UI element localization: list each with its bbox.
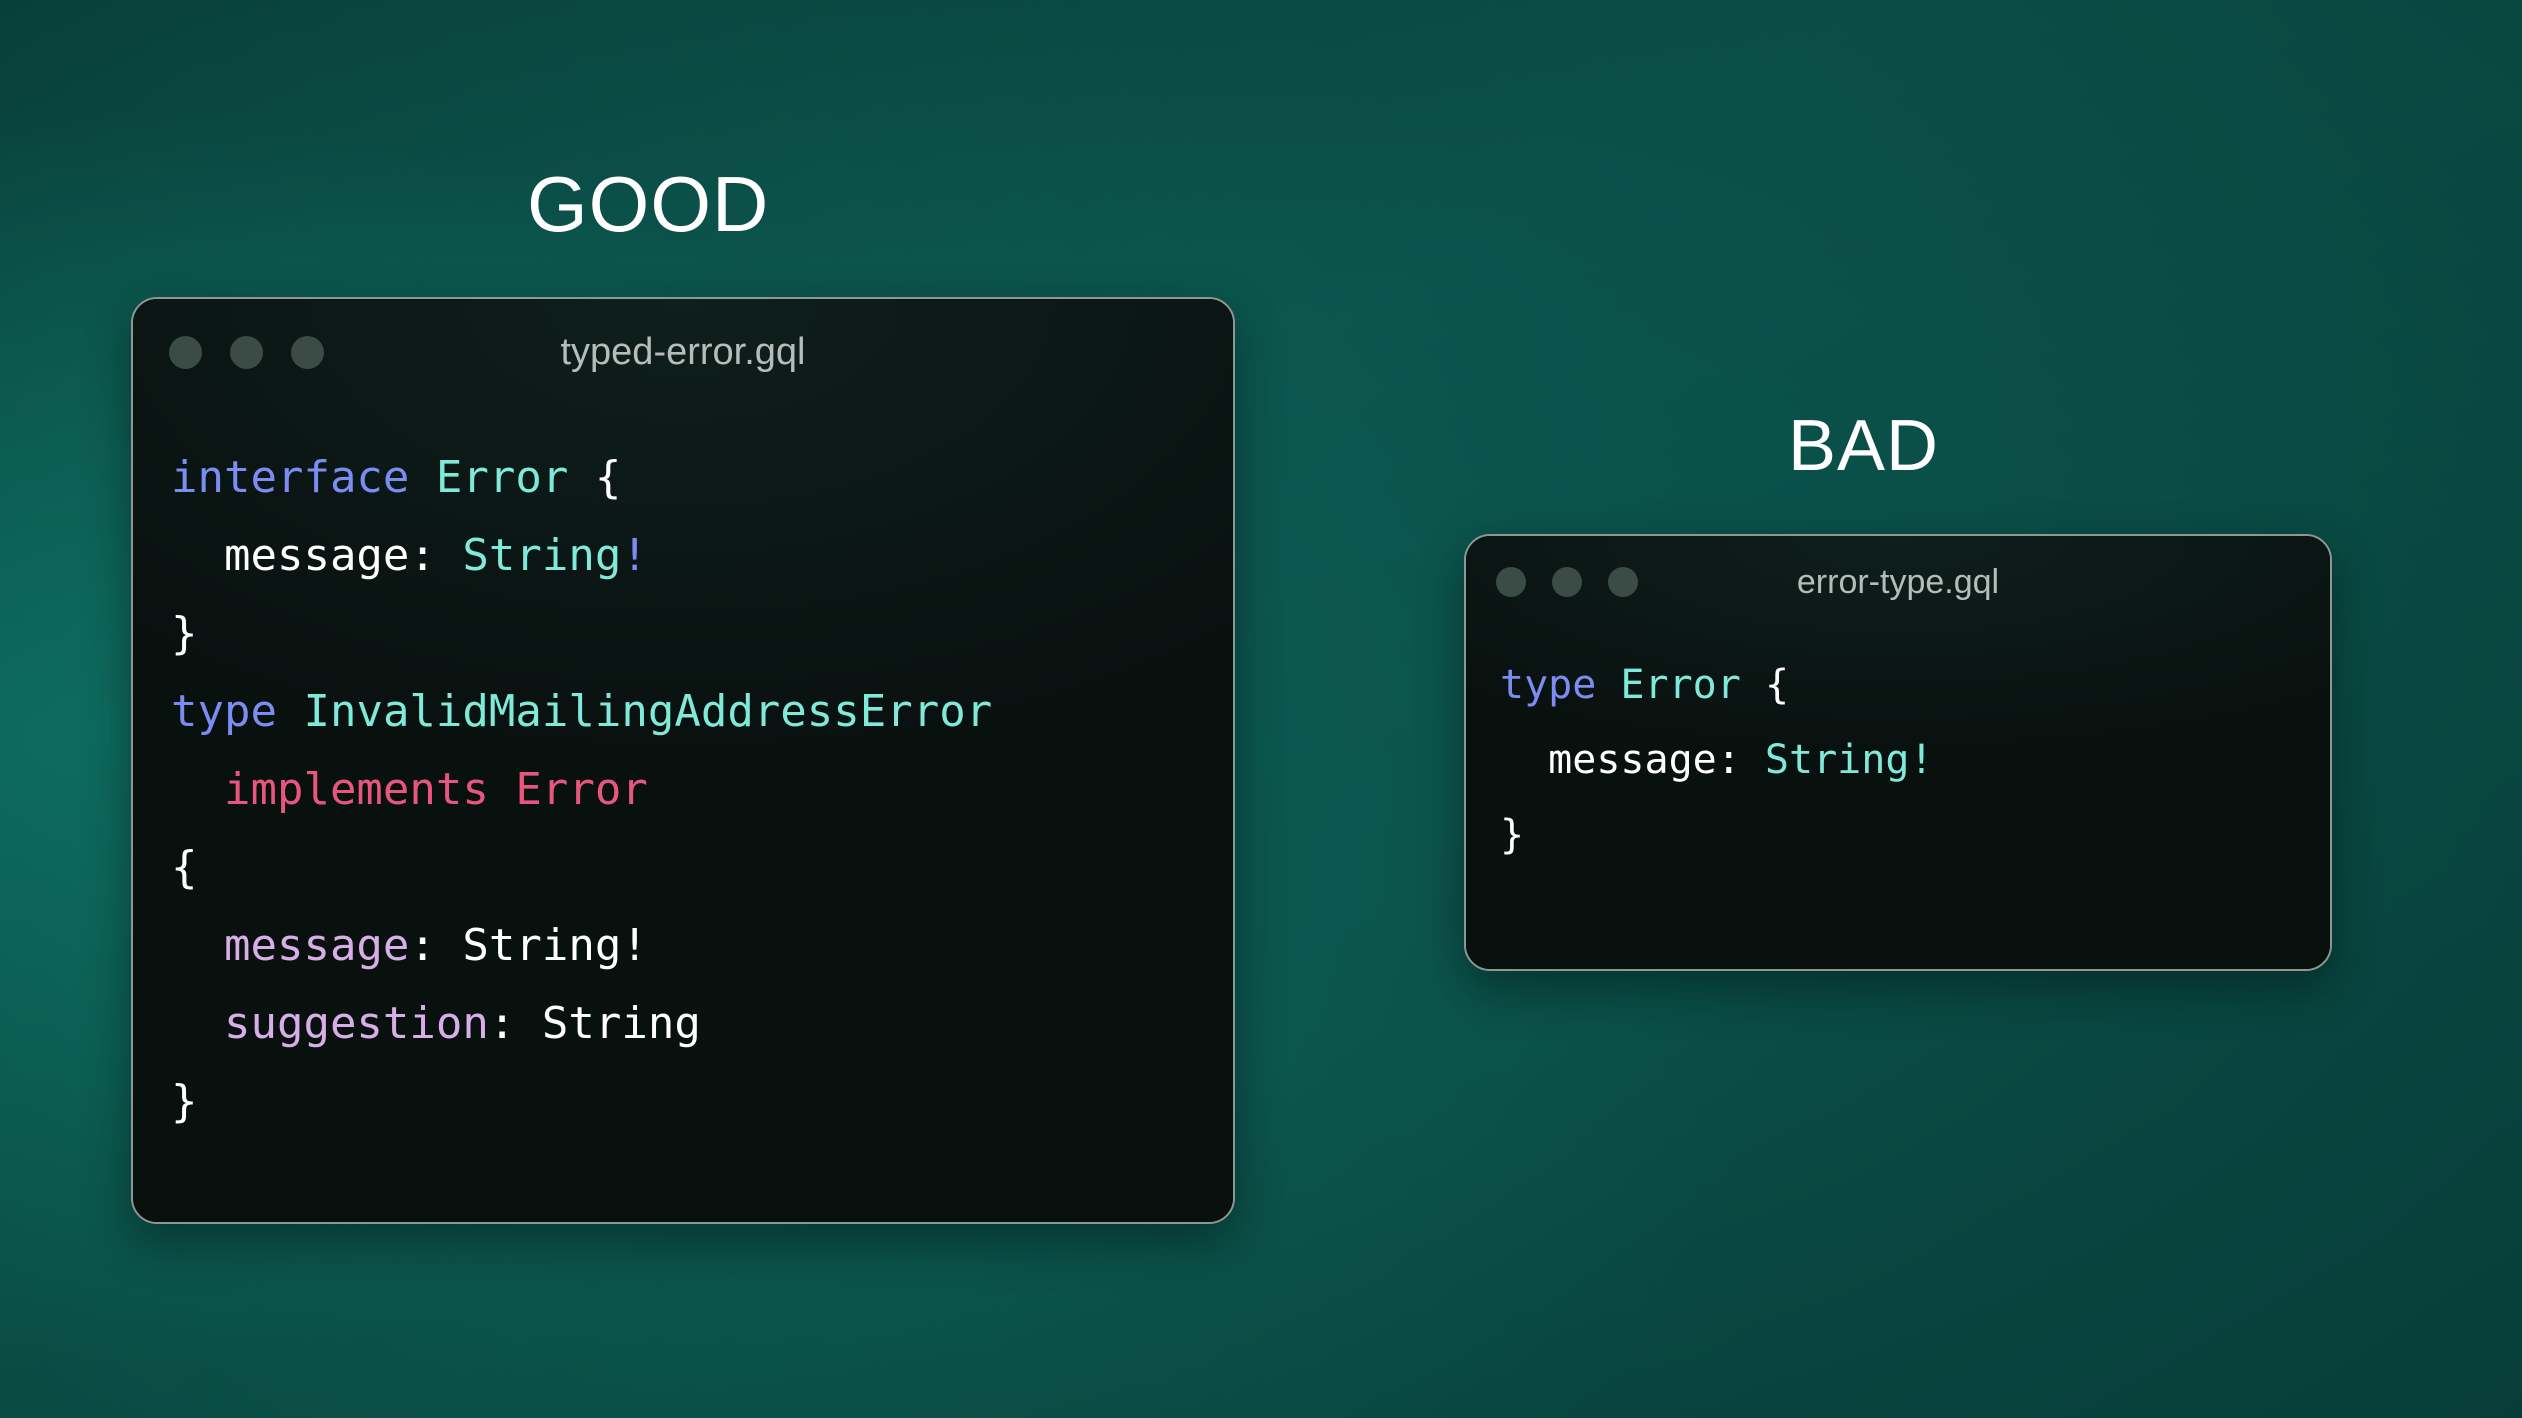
code-token-type: String bbox=[1765, 737, 1910, 783]
code-token-plain: : bbox=[489, 998, 542, 1049]
code-token-plain bbox=[171, 764, 224, 815]
code-line: message: String! bbox=[171, 517, 1233, 595]
code-token-plain: : bbox=[409, 530, 462, 581]
minimize-dot-icon[interactable] bbox=[1552, 567, 1582, 597]
code-token-plain bbox=[171, 920, 224, 971]
good-label: GOOD bbox=[527, 165, 769, 243]
code-token-plain bbox=[568, 452, 595, 503]
code-token-plain: String! bbox=[462, 920, 647, 971]
close-dot-icon[interactable] bbox=[169, 336, 202, 369]
code-token-keyword: type bbox=[171, 686, 277, 737]
code-token-pink: implements Error bbox=[224, 764, 648, 815]
code-token-plain: String bbox=[542, 998, 701, 1049]
code-line: message: String! bbox=[1500, 723, 2330, 798]
code-token-type: String bbox=[462, 530, 621, 581]
code-line: type InvalidMailingAddressError bbox=[171, 673, 1233, 751]
code-token-type: ! bbox=[1909, 737, 1933, 783]
code-token-field: suggestion bbox=[224, 998, 489, 1049]
code-token-plain bbox=[171, 530, 224, 581]
maximize-dot-icon[interactable] bbox=[291, 336, 324, 369]
code-token-punct: { bbox=[171, 842, 198, 893]
code-token-plain: : bbox=[1717, 737, 1765, 783]
code-line: suggestion: String bbox=[171, 985, 1233, 1063]
code-token-plain: message bbox=[224, 530, 409, 581]
code-token-plain bbox=[277, 686, 304, 737]
code-token-bang: ! bbox=[621, 530, 648, 581]
code-token-plain bbox=[1741, 662, 1765, 708]
traffic-lights-good bbox=[169, 336, 352, 369]
code-window-bad: error-type.gql type Error { message: Str… bbox=[1464, 534, 2332, 971]
code-block-bad: type Error { message: String!} bbox=[1466, 628, 2330, 873]
code-line: implements Error bbox=[171, 751, 1233, 829]
code-token-plain bbox=[409, 452, 436, 503]
minimize-dot-icon[interactable] bbox=[230, 336, 263, 369]
code-token-plain: : bbox=[409, 920, 462, 971]
code-token-punct: } bbox=[171, 608, 198, 659]
code-line: } bbox=[171, 595, 1233, 673]
code-token-plain bbox=[171, 998, 224, 1049]
code-line: { bbox=[171, 829, 1233, 907]
bad-label: BAD bbox=[1788, 410, 1939, 482]
code-token-punct: } bbox=[171, 1076, 198, 1127]
close-dot-icon[interactable] bbox=[1496, 567, 1526, 597]
code-token-type: Error bbox=[1620, 662, 1740, 708]
code-token-keyword: interface bbox=[171, 452, 409, 503]
code-token-type: Error bbox=[436, 452, 568, 503]
code-line: } bbox=[171, 1063, 1233, 1141]
code-line: interface Error { bbox=[171, 439, 1233, 517]
code-token-keyword: type bbox=[1500, 662, 1596, 708]
window-titlebar-good: typed-error.gql bbox=[133, 299, 1233, 405]
code-window-good: typed-error.gql interface Error { messag… bbox=[131, 297, 1235, 1224]
code-token-plain bbox=[1596, 662, 1620, 708]
code-line: type Error { bbox=[1500, 648, 2330, 723]
code-line: } bbox=[1500, 798, 2330, 873]
code-token-punct: { bbox=[1765, 662, 1789, 708]
traffic-lights-bad bbox=[1496, 567, 1664, 597]
code-line: message: String! bbox=[171, 907, 1233, 985]
window-titlebar-bad: error-type.gql bbox=[1466, 536, 2330, 628]
maximize-dot-icon[interactable] bbox=[1608, 567, 1638, 597]
code-token-field: message bbox=[224, 920, 409, 971]
code-token-plain: message bbox=[1548, 737, 1717, 783]
code-token-type: InvalidMailingAddressError bbox=[303, 686, 992, 737]
code-token-punct: { bbox=[595, 452, 622, 503]
code-block-good: interface Error { message: String!}type … bbox=[133, 405, 1233, 1141]
code-token-plain bbox=[1500, 737, 1548, 783]
code-token-punct: } bbox=[1500, 812, 1524, 858]
